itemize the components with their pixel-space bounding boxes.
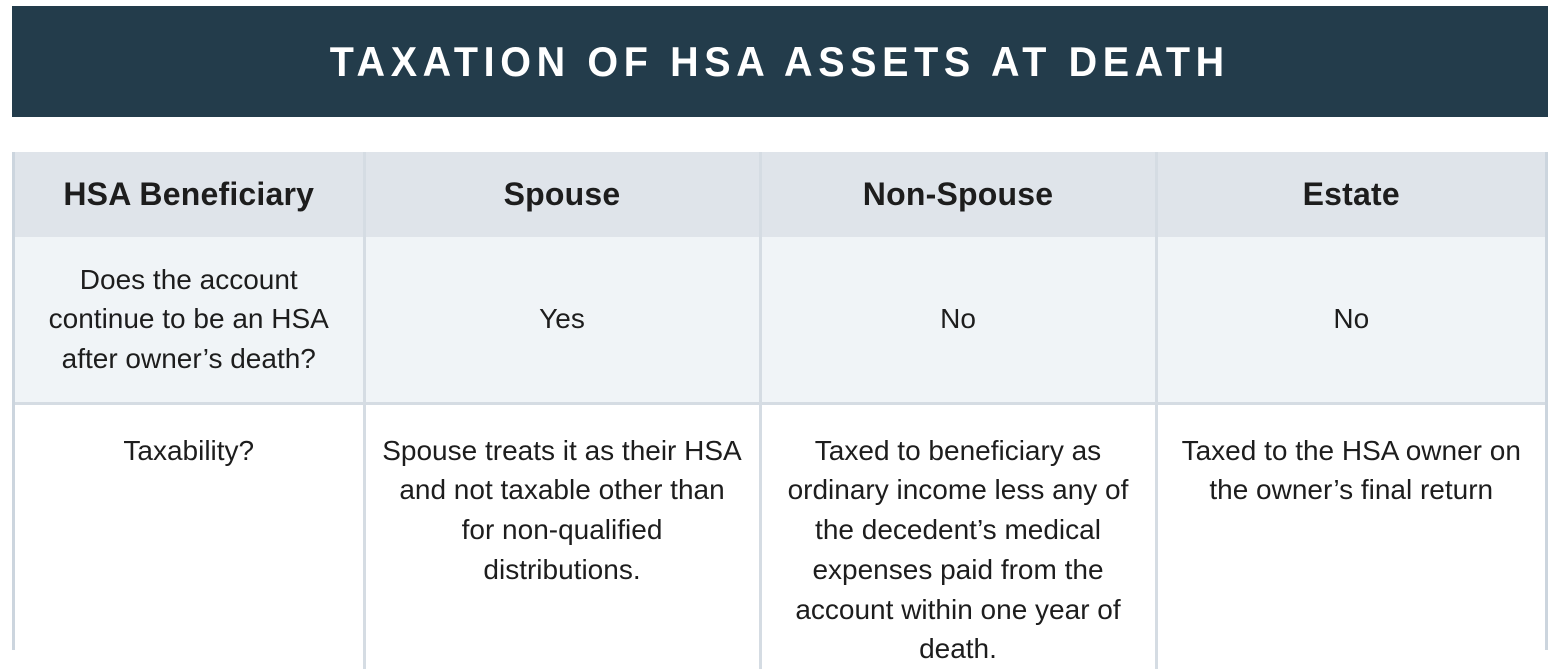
hsa-taxation-infographic: TAXATION OF HSA ASSETS AT DEATH HSA Bene… <box>0 0 1563 669</box>
cell-non-spouse: No <box>760 237 1156 403</box>
table-body: Does the account continue to be an HSA a… <box>15 237 1545 669</box>
taxation-table-container: HSA Beneficiary Spouse Non-Spouse Estate… <box>12 152 1548 650</box>
column-header-spouse: Spouse <box>364 152 760 237</box>
cell-spouse: Yes <box>364 237 760 403</box>
column-header-non-spouse: Non-Spouse <box>760 152 1156 237</box>
row-question-label: Taxability? <box>15 403 364 669</box>
table-header: HSA Beneficiary Spouse Non-Spouse Estate <box>15 152 1545 237</box>
table-row: Taxability? Spouse treats it as their HS… <box>15 403 1545 669</box>
cell-non-spouse: Taxed to beneficiary as ordinary income … <box>760 403 1156 669</box>
taxation-table: HSA Beneficiary Spouse Non-Spouse Estate… <box>15 152 1545 669</box>
cell-estate: Taxed to the HSA owner on the owner’s fi… <box>1156 403 1545 669</box>
column-header-hsa-beneficiary: HSA Beneficiary <box>15 152 364 237</box>
row-question-label: Does the account continue to be an HSA a… <box>15 237 364 403</box>
column-header-estate: Estate <box>1156 152 1545 237</box>
title-banner: TAXATION OF HSA ASSETS AT DEATH <box>12 6 1548 117</box>
table-header-row: HSA Beneficiary Spouse Non-Spouse Estate <box>15 152 1545 237</box>
cell-spouse: Spouse treats it as their HSA and not ta… <box>364 403 760 669</box>
page-title: TAXATION OF HSA ASSETS AT DEATH <box>330 41 1230 83</box>
cell-estate: No <box>1156 237 1545 403</box>
table-row: Does the account continue to be an HSA a… <box>15 237 1545 403</box>
